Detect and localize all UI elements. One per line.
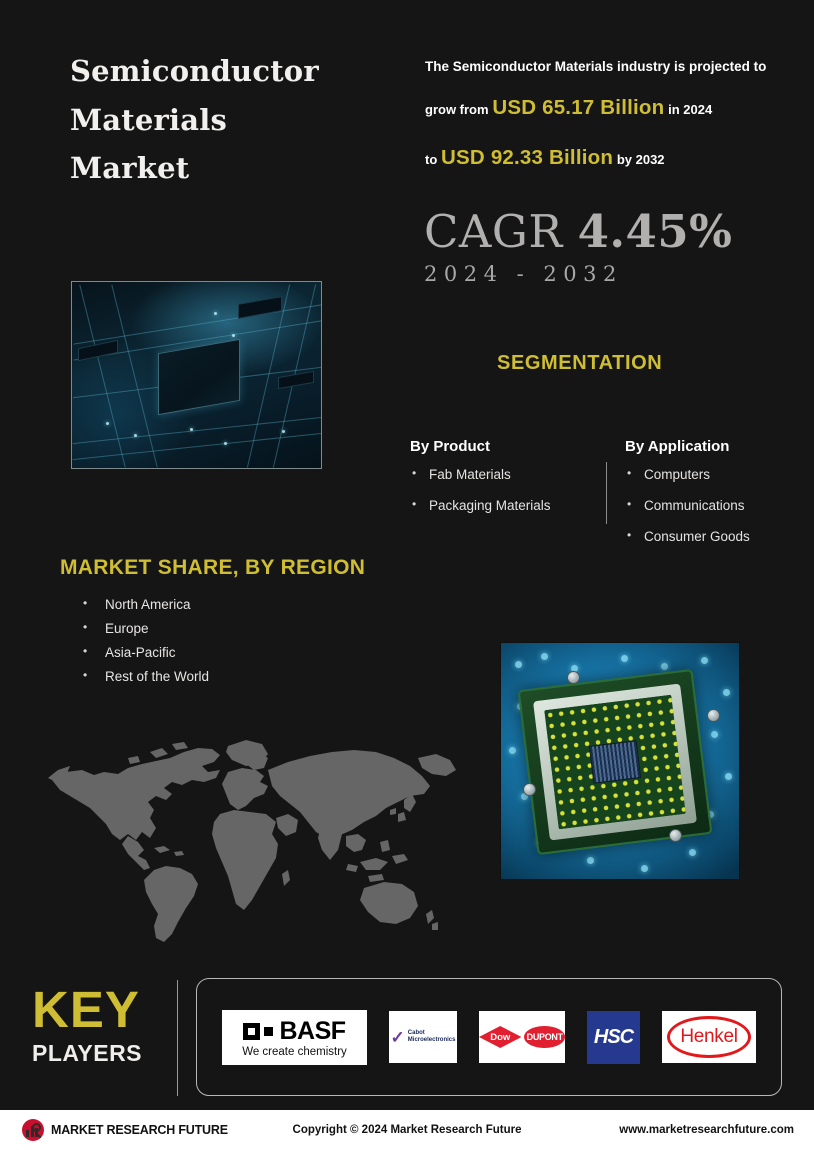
projection-value-2032: USD 92.33 Billion — [441, 146, 613, 169]
dow-diamond-icon: Dow — [479, 1026, 521, 1048]
page-title-line-1: Semiconductor — [70, 47, 400, 96]
segmentation-list-by-application: Computers Communications Consumer Goods — [625, 468, 800, 545]
list-item: Packaging Materials — [410, 499, 610, 514]
page-title-line-2: Materials — [70, 96, 400, 145]
chip-die — [158, 339, 240, 415]
list-item: Europe — [80, 622, 209, 637]
logo-hsc-text: HSC — [594, 1026, 633, 1049]
logo-basf: BASF We create chemistry — [222, 1010, 367, 1065]
logo-henkel: Henkel — [662, 1011, 756, 1063]
key-players-label-big: KEY — [32, 986, 167, 1034]
dupont-oval-icon: DUPONT — [524, 1026, 565, 1048]
projection-grow-from-label: grow from — [425, 102, 489, 117]
footer-website-url[interactable]: www.marketresearchfuture.com — [619, 1124, 794, 1136]
logo-hsc: HSC — [587, 1011, 640, 1064]
screw-icon — [707, 709, 720, 722]
list-item: Communications — [625, 499, 800, 514]
footer-bar: MARKET RESEARCH FUTURE Copyright © 2024 … — [0, 1110, 814, 1150]
screw-icon — [669, 829, 682, 842]
screw-icon — [567, 671, 580, 684]
cpu-die — [589, 740, 641, 784]
market-share-region-list: North America Europe Asia-Pacific Rest o… — [80, 598, 209, 693]
page-title: Semiconductor Materials Market — [70, 47, 400, 193]
key-players-section: KEY PLAYERS BASF We create chemistry ✓ C… — [0, 978, 814, 1108]
projection-year-2024: in 2024 — [668, 102, 712, 117]
segmentation-list-by-product: Fab Materials Packaging Materials — [410, 468, 610, 514]
cagr-headline: CAGR 4.45% — [424, 205, 794, 258]
logo-basf-name: BASF — [279, 1019, 345, 1044]
list-item: Fab Materials — [410, 468, 610, 483]
basf-square-outer-icon — [243, 1023, 260, 1040]
segmentation-title: SEGMENTATION — [497, 352, 662, 375]
logo-dowdupont: Dow DUPONT — [479, 1011, 565, 1063]
list-item: Rest of the World — [80, 670, 209, 685]
basf-square-small-icon — [264, 1027, 273, 1036]
henkel-oval-icon: Henkel — [667, 1016, 751, 1058]
cabot-checkmark-icon: ✓ — [391, 1029, 405, 1046]
logo-basf-tagline: We create chemistry — [242, 1046, 347, 1058]
list-item: Consumer Goods — [625, 530, 800, 545]
segmentation-divider — [606, 462, 607, 524]
page-title-line-3: Market — [70, 144, 400, 193]
projection-to-label: to — [425, 152, 437, 167]
key-players-label-small: PLAYERS — [32, 1040, 167, 1067]
segmentation-heading-by-application: By Application — [625, 438, 800, 455]
projection-year-2032: by 2032 — [617, 152, 665, 167]
projection-statement: The Semiconductor Materials industry is … — [425, 50, 785, 184]
key-players-divider — [177, 980, 178, 1096]
logo-cabot-line1: Cabot — [408, 1030, 425, 1036]
list-item: Computers — [625, 468, 800, 483]
list-item: North America — [80, 598, 209, 613]
logo-dow-text: Dow — [490, 1032, 510, 1043]
logo-cabot-microelectronics: ✓ Cabot Microelectronics — [389, 1011, 457, 1063]
key-players-logo-box: BASF We create chemistry ✓ Cabot Microel… — [196, 978, 782, 1096]
cagr-block: CAGR 4.45% 2024 - 2032 — [424, 205, 794, 286]
cpu-socket — [518, 669, 713, 855]
list-item: Asia-Pacific — [80, 646, 209, 661]
segmentation-column-by-product: By Product Fab Materials Packaging Mater… — [410, 438, 610, 530]
projection-lead: The Semiconductor Materials industry is … — [425, 59, 766, 74]
market-share-title: MARKET SHARE, BY REGION — [60, 556, 365, 580]
projection-value-2024: USD 65.17 Billion — [492, 96, 664, 119]
cagr-value: 4.45% — [578, 205, 733, 258]
key-players-label: KEY PLAYERS — [32, 986, 167, 1067]
cagr-label: CAGR — [424, 205, 563, 258]
cpu-socket-image — [500, 642, 740, 880]
logo-cabot-line2: Microelectronics — [408, 1037, 456, 1043]
segmentation-heading-by-product: By Product — [410, 438, 610, 455]
screw-icon — [523, 783, 536, 796]
cagr-period: 2024 - 2032 — [424, 262, 794, 286]
logo-henkel-text: Henkel — [680, 1026, 737, 1048]
segmentation-column-by-application: By Application Computers Communications … — [625, 438, 800, 561]
logo-dupont-text: DUPONT — [527, 1032, 563, 1042]
circuit-board-image — [71, 281, 322, 469]
world-map — [32, 718, 470, 950]
